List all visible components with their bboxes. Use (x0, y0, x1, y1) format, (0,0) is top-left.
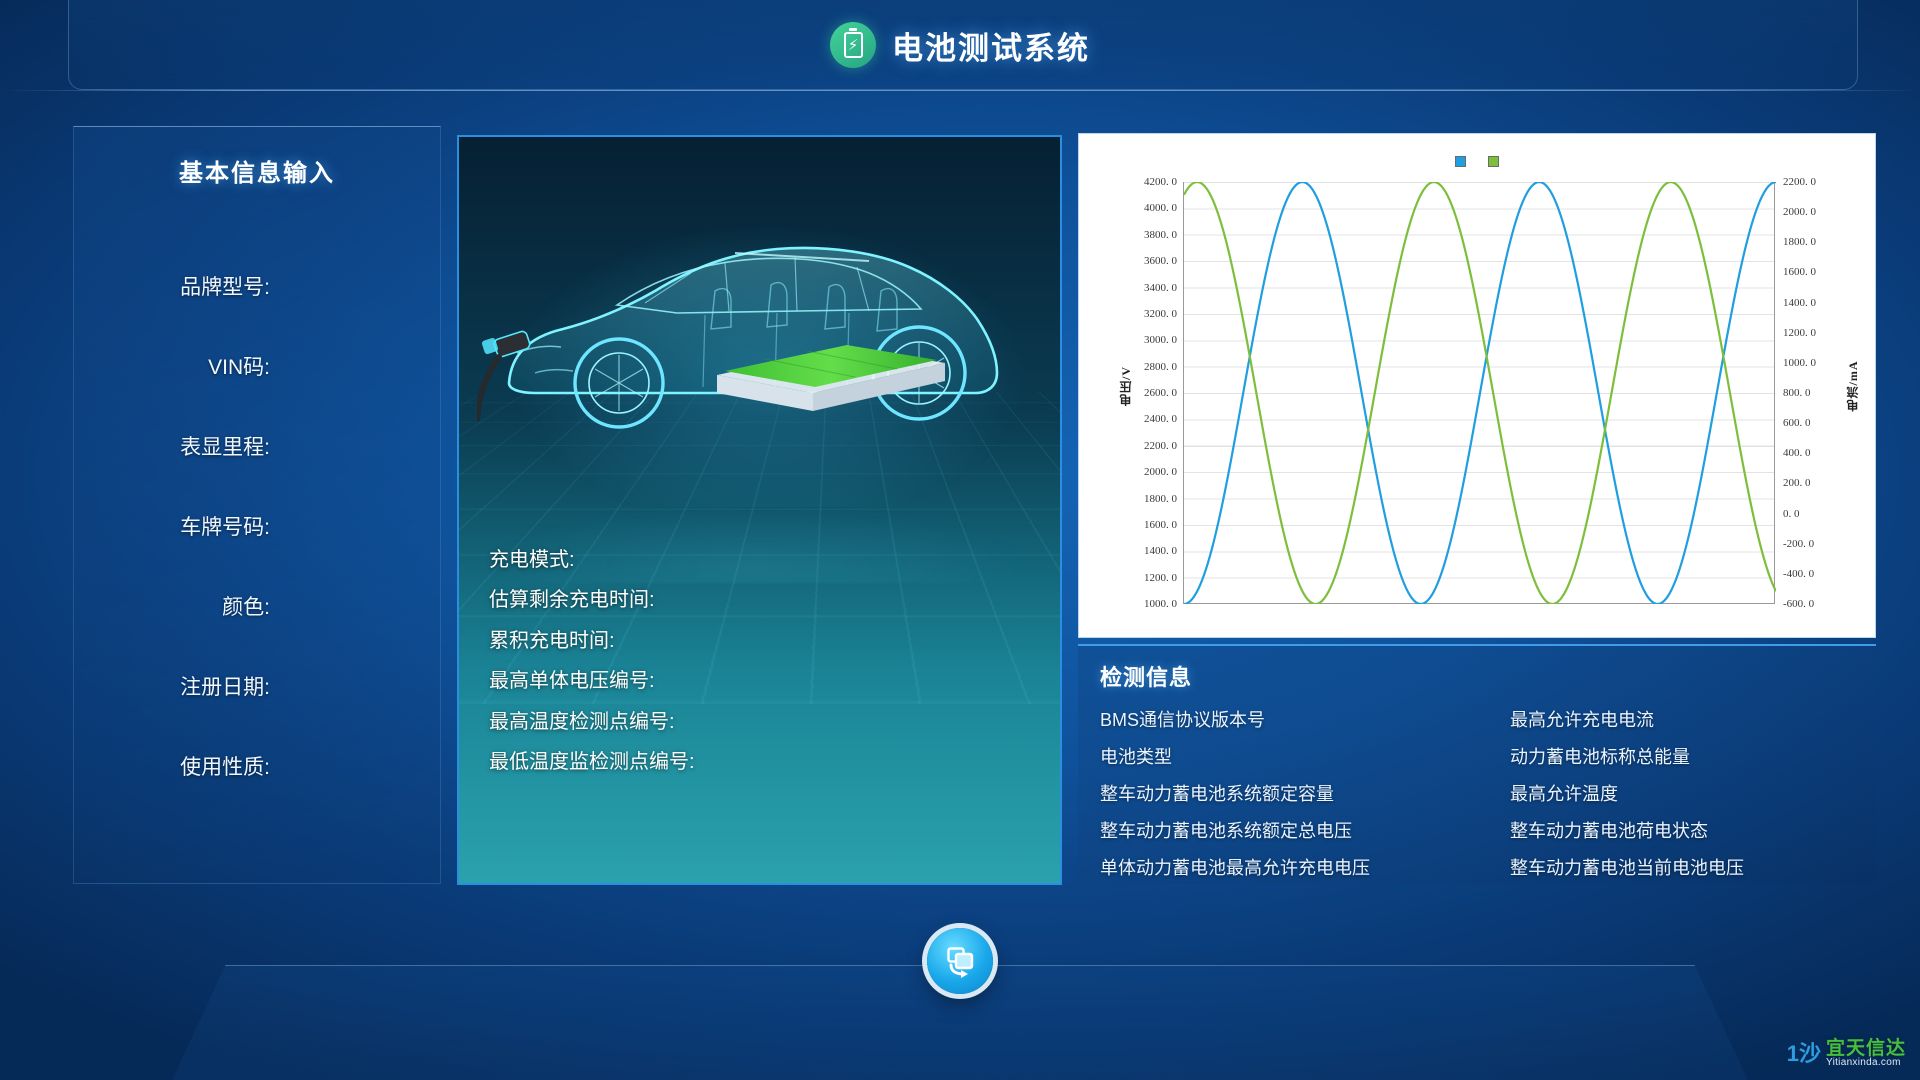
form-row-plate-number: 车牌号码: (74, 486, 440, 566)
chart-y-left-axis-title: 电压/V (1117, 366, 1134, 406)
chart-tick-label: 1200. 0 (1783, 327, 1816, 339)
chart-tick-label: -600. 0 (1783, 598, 1814, 610)
watermark: 1沙 宜天信达 Yitianxinda.com (1787, 1039, 1906, 1068)
chart-tick-label: 2200. 0 (1783, 176, 1816, 188)
chart-tick-label: 3800. 0 (1144, 229, 1177, 241)
label-brand-model: 品牌型号: (74, 271, 270, 301)
label-color: 颜色: (74, 591, 270, 621)
chart-tick-label: -400. 0 (1783, 568, 1814, 580)
form-row-brand-model: 品牌型号: (74, 246, 440, 326)
status-row-charging-mode: 充电模式: (489, 537, 1049, 578)
switch-window-icon (942, 943, 978, 979)
label-max-cell-voltage-id: 最高单体电压编号: (489, 664, 655, 693)
chart-tick-label: 3000. 0 (1144, 334, 1177, 346)
input-brand-model[interactable] (280, 276, 440, 296)
chart-tick-label: 1000. 0 (1144, 598, 1177, 610)
chart-legend (1079, 156, 1875, 167)
label-usage-type: 使用性质: (74, 751, 270, 781)
ev-car-wireframe-icon (477, 187, 1047, 487)
detect-item-rated-capacity: 整车动力蓄电池系统额定容量 (1100, 776, 1510, 813)
watermark-en-text: Yitianxinda.com (1826, 1058, 1906, 1068)
input-vin[interactable] (280, 356, 440, 376)
detect-item-cell-max-charge-voltage: 单体动力蓄电池最高允许充电电压 (1100, 850, 1510, 887)
chart-tick-label: 0. 0 (1783, 508, 1800, 520)
chart-tick-label: 400. 0 (1783, 447, 1811, 459)
chart-tick-label: 1800. 0 (1783, 236, 1816, 248)
form-row-mileage: 表显里程: (74, 406, 440, 486)
chart-tick-label: 2200. 0 (1144, 440, 1177, 452)
detect-item-bms-protocol-version: BMS通信协议版本号 (1100, 702, 1510, 739)
chart-tick-label: 2800. 0 (1144, 361, 1177, 373)
status-row-accumulated-time: 累积充电时间: (489, 618, 1049, 659)
chart-tick-label: 4000. 0 (1144, 202, 1177, 214)
watermark-cn-text: 宜天信达 (1826, 1039, 1906, 1058)
chart-tick-label: 1400. 0 (1144, 545, 1177, 557)
form-row-color: 颜色: (74, 566, 440, 646)
chart-tick-label: 600. 0 (1783, 417, 1811, 429)
label-estimated-remaining-time: 估算剩余充电时间: (489, 583, 655, 612)
chart-tick-label: 3400. 0 (1144, 282, 1177, 294)
detect-item-current-battery-voltage: 整车动力蓄电池当前电池电压 (1510, 850, 1876, 887)
legend-marker-current[interactable] (1488, 156, 1499, 167)
chart-series-curves (1184, 182, 1776, 604)
label-mileage: 表显里程: (74, 431, 270, 461)
chart-tick-label: 1200. 0 (1144, 572, 1177, 584)
input-mileage[interactable] (280, 436, 440, 456)
status-row-max-cell-voltage-id: 最高单体电压编号: (489, 659, 1049, 700)
chart-tick-label: 1400. 0 (1783, 297, 1816, 309)
chart-tick-label: 2600. 0 (1144, 387, 1177, 399)
watermark-logo-icon: 1沙 (1787, 1043, 1821, 1065)
basic-info-panel: 基本信息输入 品牌型号: VIN码: 表显里程: 车牌号码: 颜色: 注册日期:… (73, 126, 441, 884)
legend-marker-voltage[interactable] (1455, 156, 1466, 167)
battery-bolt-icon: ⚡ (830, 22, 876, 68)
input-registration-date[interactable] (280, 676, 440, 696)
chart-plot-area (1183, 182, 1775, 604)
chart-tick-label: 1000. 0 (1783, 357, 1816, 369)
status-row-max-temp-probe-id: 最高温度检测点编号: (489, 699, 1049, 740)
detect-item-battery-type: 电池类型 (1100, 739, 1510, 776)
label-accumulated-time: 累积充电时间: (489, 624, 615, 653)
voltage-current-chart-panel: 电压/V 电流/mA 4200. 04000. 03800. 03600. 03… (1078, 133, 1876, 638)
vehicle-charging-panel: 充电模式: 估算剩余充电时间: 累积充电时间: 最高单体电压编号: 最高温度检测… (457, 135, 1062, 885)
app-header: ⚡ 电池测试系统 (0, 0, 1920, 90)
form-row-vin: VIN码: (74, 326, 440, 406)
detect-item-max-allowed-temperature: 最高允许温度 (1510, 776, 1876, 813)
page-title: 电池测试系统 (892, 23, 1090, 68)
label-min-temp-probe-id: 最低温度监检测点编号: (489, 745, 695, 774)
chart-tick-label: 1600. 0 (1144, 519, 1177, 531)
chart-tick-label: 4200. 0 (1144, 176, 1177, 188)
chart-tick-label: 2000. 0 (1783, 206, 1816, 218)
detection-info-grid: BMS通信协议版本号 最高允许充电电流 电池类型 动力蓄电池标称总能量 整车动力… (1100, 702, 1876, 887)
detect-item-state-of-charge: 整车动力蓄电池荷电状态 (1510, 813, 1876, 850)
chart-tick-label: -200. 0 (1783, 538, 1814, 550)
label-vin: VIN码: (74, 351, 270, 381)
input-color[interactable] (280, 596, 440, 616)
chart-tick-label: 200. 0 (1783, 477, 1811, 489)
switch-window-button[interactable] (927, 928, 993, 994)
chart-plot-wrapper: 4200. 04000. 03800. 03600. 03400. 03200.… (1183, 182, 1775, 604)
charging-status-field-list: 充电模式: 估算剩余充电时间: 累积充电时间: 最高单体电压编号: 最高温度检测… (489, 537, 1049, 780)
form-row-usage-type: 使用性质: (74, 726, 440, 806)
chart-series-voltage (1184, 182, 1776, 604)
chart-tick-label: 2400. 0 (1144, 413, 1177, 425)
chart-tick-label: 2000. 0 (1144, 466, 1177, 478)
basic-info-title: 基本信息输入 (74, 153, 440, 188)
input-usage-type[interactable] (280, 756, 440, 776)
label-charging-mode: 充电模式: (489, 543, 575, 572)
label-plate-number: 车牌号码: (74, 511, 270, 541)
label-registration-date: 注册日期: (74, 671, 270, 701)
detection-info-title: 检测信息 (1100, 660, 1876, 692)
status-row-min-temp-probe-id: 最低温度监检测点编号: (489, 740, 1049, 781)
chart-tick-label: 3200. 0 (1144, 308, 1177, 320)
status-row-estimated-remaining-time: 估算剩余充电时间: (489, 578, 1049, 619)
detect-item-max-allowed-charge-current: 最高允许充电电流 (1510, 702, 1876, 739)
chart-tick-label: 800. 0 (1783, 387, 1811, 399)
detect-item-nominal-total-energy: 动力蓄电池标称总能量 (1510, 739, 1876, 776)
label-max-temp-probe-id: 最高温度检测点编号: (489, 705, 675, 734)
form-row-registration-date: 注册日期: (74, 646, 440, 726)
chart-tick-label: 1600. 0 (1783, 266, 1816, 278)
detect-item-rated-total-voltage: 整车动力蓄电池系统额定总电压 (1100, 813, 1510, 850)
detection-info-panel: 检测信息 BMS通信协议版本号 最高允许充电电流 电池类型 动力蓄电池标称总能量… (1078, 644, 1876, 884)
chart-y-right-axis-title: 电流/mA (1844, 360, 1861, 411)
header-divider (0, 90, 1920, 91)
basic-info-field-list: 品牌型号: VIN码: 表显里程: 车牌号码: 颜色: 注册日期: 使用性质: (74, 246, 440, 806)
input-plate-number[interactable] (280, 516, 440, 536)
chart-tick-label: 1800. 0 (1144, 493, 1177, 505)
chart-tick-label: 3600. 0 (1144, 255, 1177, 267)
